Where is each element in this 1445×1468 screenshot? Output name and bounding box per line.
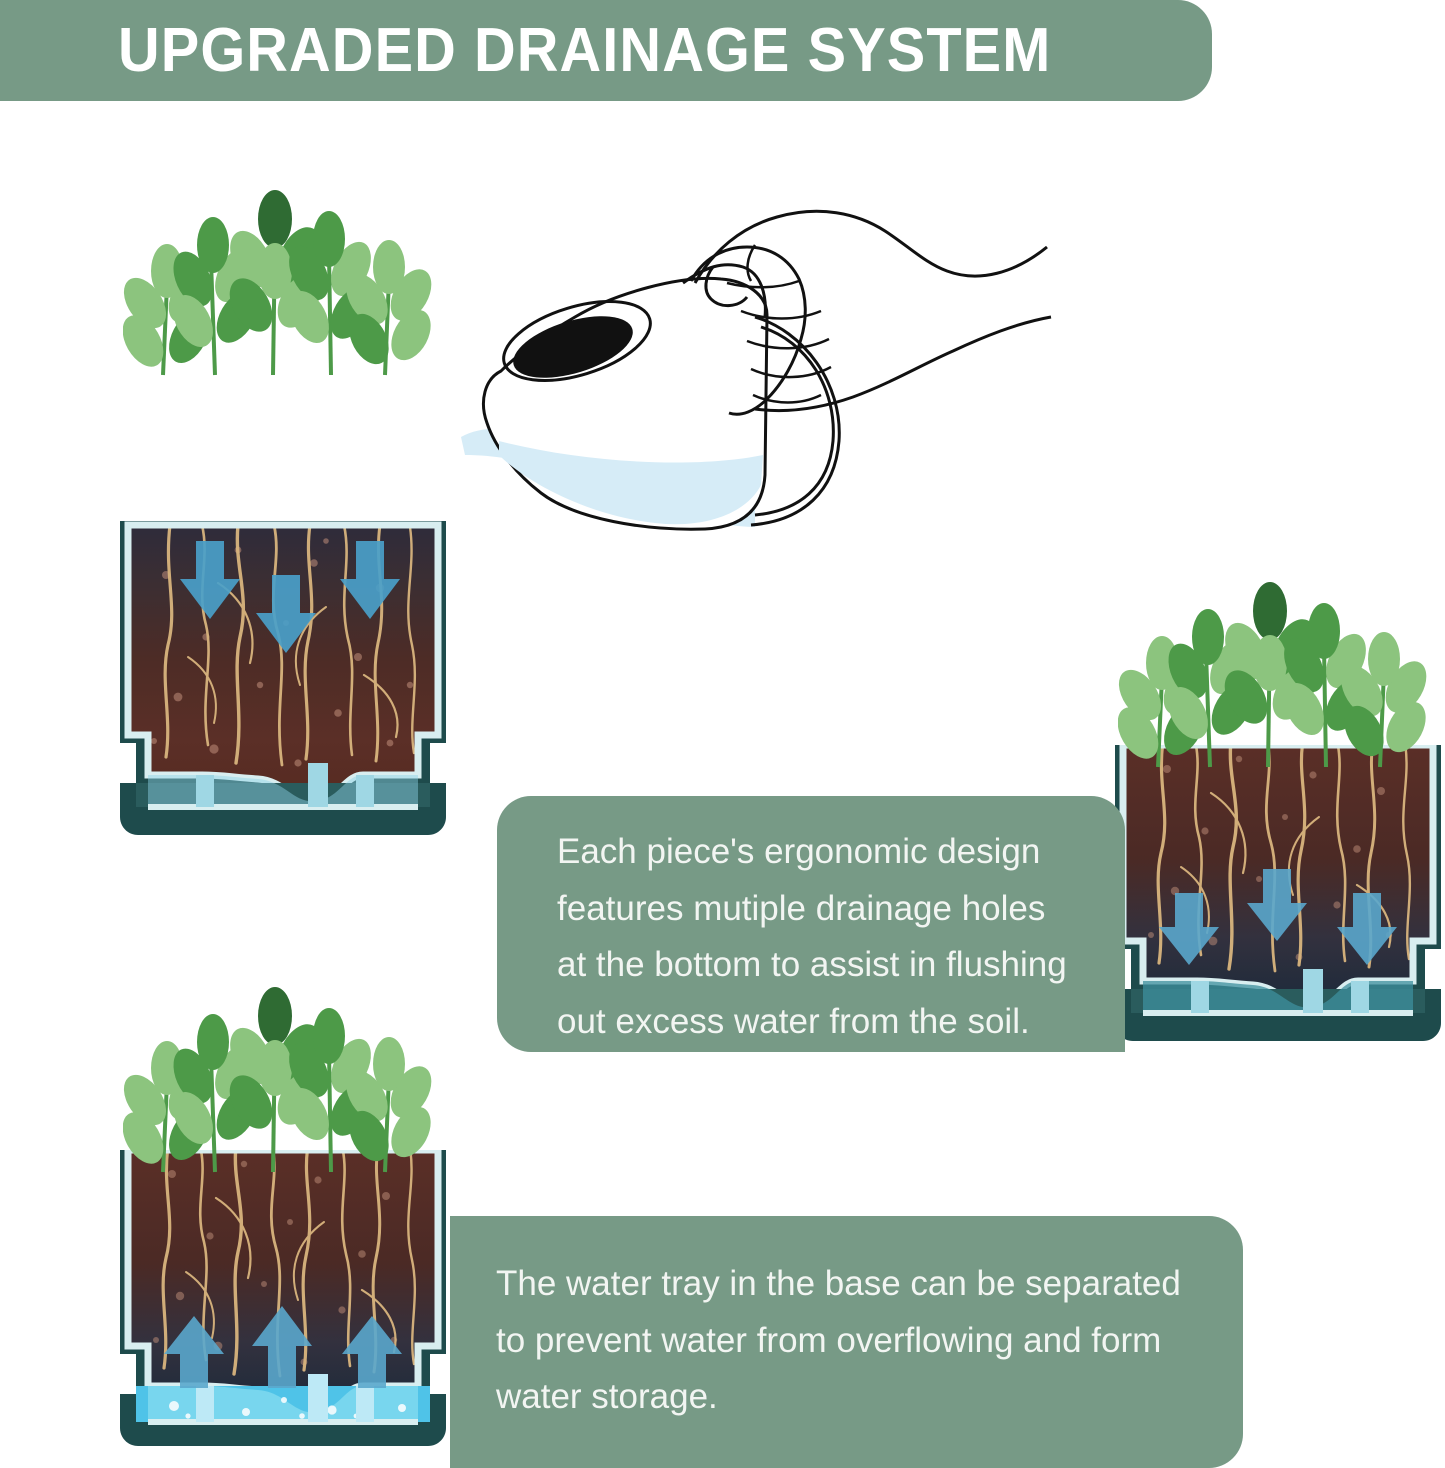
succulent-foliage [1118,582,1428,767]
drain-hole-left [196,1386,214,1422]
drain-hole-right [356,775,374,807]
arm-bottom-line [755,317,1051,411]
planter-top-left-graphic [118,345,448,845]
planter-bottom-left-graphic [118,1150,448,1460]
title-banner: UPGRADED DRAINAGE SYSTEM [0,0,1212,101]
infographic-page: UPGRADED DRAINAGE SYSTEM [0,0,1445,1468]
planter-right-graphic [1113,745,1443,1055]
drain-hole-center [308,763,328,807]
drain-hole-center [308,1374,328,1422]
succulent-foliage [123,987,433,1172]
drain-hole-center [1303,969,1323,1013]
caption-water-tray-text: The water tray in the base can be separa… [496,1256,1213,1426]
succulent-foliage [123,190,433,375]
drain-hole-right [356,1386,374,1422]
watering-hand-scene [455,155,1055,575]
soil-region [118,515,448,815]
plant-right [1118,567,1428,777]
drain-hole-right [1351,981,1369,1013]
page-title: UPGRADED DRAINAGE SYSTEM [118,20,1051,82]
plant-bottom-left [123,972,433,1182]
planter-bottom-left [118,1150,448,1460]
planter-top-left [118,345,448,845]
plant-top-left [123,175,433,385]
caption-drainage-holes: Each piece's ergonomic design features m… [497,796,1125,1052]
drain-hole-left [1191,981,1209,1013]
planter-right [1113,745,1443,1055]
drain-hole-left [196,775,214,807]
caption-drainage-holes-text: Each piece's ergonomic design features m… [557,824,1095,1051]
caption-water-tray: The water tray in the base can be separa… [450,1216,1243,1468]
leaf-cluster [123,190,433,374]
